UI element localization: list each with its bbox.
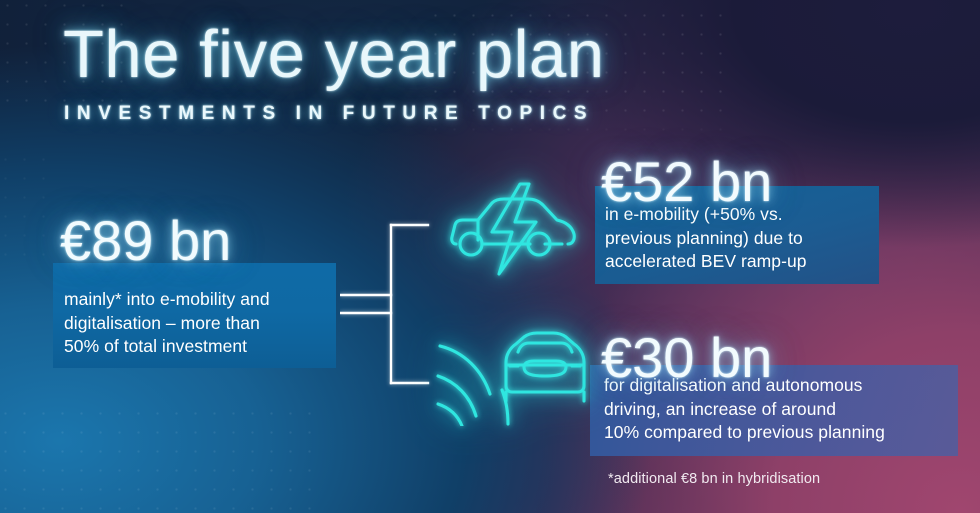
autonomous-car-sensor-icon — [432, 322, 592, 431]
amount-digitalisation: €30 bn — [601, 328, 772, 388]
footnote: *additional €8 bn in hybridisation — [608, 471, 820, 487]
amount-total-investment: €89 bn — [60, 211, 231, 271]
dot-grid-mid-left — [0, 150, 56, 270]
electric-car-icon — [444, 182, 582, 283]
panel-total-investment: mainly* into e-mobility and digitalisati… — [53, 263, 336, 368]
panel-e-mobility-text: in e-mobility (+50% vs. previous plannin… — [605, 203, 807, 274]
dot-grid-bottom-left — [0, 404, 326, 513]
page-title: The five year plan — [63, 17, 605, 93]
infographic-canvas: The five year plan INVESTMENTS IN FUTURE… — [0, 0, 980, 513]
panel-total-investment-text: mainly* into e-mobility and digitalisati… — [64, 288, 270, 359]
page-subtitle: INVESTMENTS IN FUTURE TOPICS — [64, 103, 594, 125]
amount-e-mobility: €52 bn — [601, 152, 772, 212]
